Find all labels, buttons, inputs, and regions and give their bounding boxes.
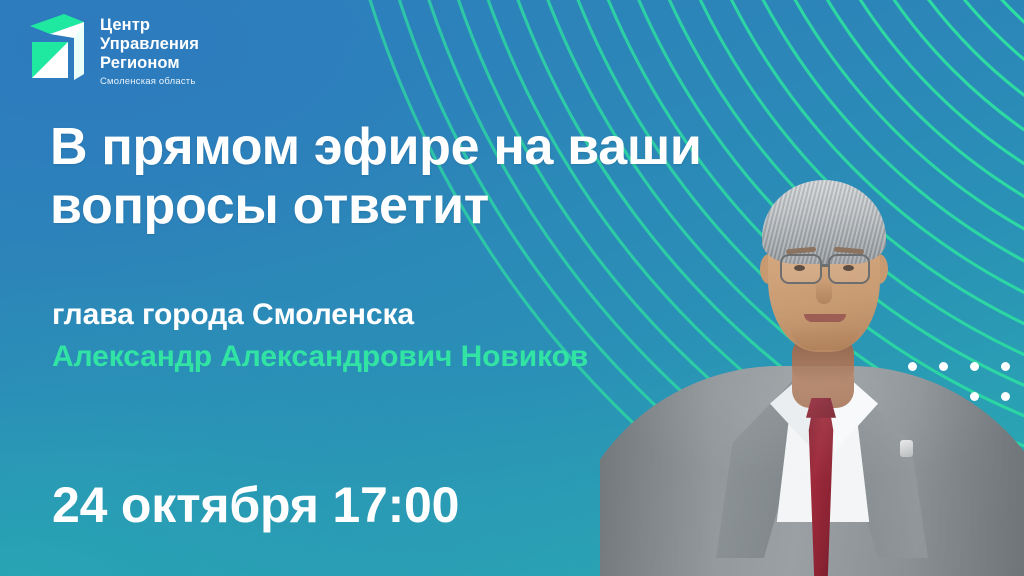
cur-logo: Центр Управления Регионом Смоленская обл… bbox=[26, 12, 199, 87]
headline: В прямом эфире на ваши вопросы ответит bbox=[50, 118, 810, 237]
mouth bbox=[804, 314, 846, 322]
eyeglass-lens-right bbox=[828, 254, 870, 284]
livestream-announcement-banner: Центр Управления Регионом Смоленская обл… bbox=[0, 0, 1024, 576]
cur-logo-subtitle: Смоленская область bbox=[100, 76, 199, 87]
eyeglass-bridge bbox=[821, 264, 830, 267]
cur-isometric-cube-arrow-logo-icon bbox=[26, 12, 88, 82]
nose bbox=[816, 278, 832, 304]
event-datetime: 24 октября 17:00 bbox=[52, 476, 459, 534]
cur-logo-title: Центр Управления Регионом bbox=[100, 16, 199, 73]
cur-logo-text: Центр Управления Регионом Смоленская обл… bbox=[100, 12, 199, 87]
suit-shading bbox=[600, 366, 1024, 576]
lapel-pin-icon bbox=[900, 440, 913, 457]
speaker-role: глава города Смоленска bbox=[52, 298, 414, 332]
headline-line-2: вопросы ответит bbox=[50, 177, 810, 236]
speaker-name: Александр Александрович Новиков bbox=[52, 340, 588, 374]
headline-line-1: В прямом эфире на ваши bbox=[50, 118, 810, 177]
